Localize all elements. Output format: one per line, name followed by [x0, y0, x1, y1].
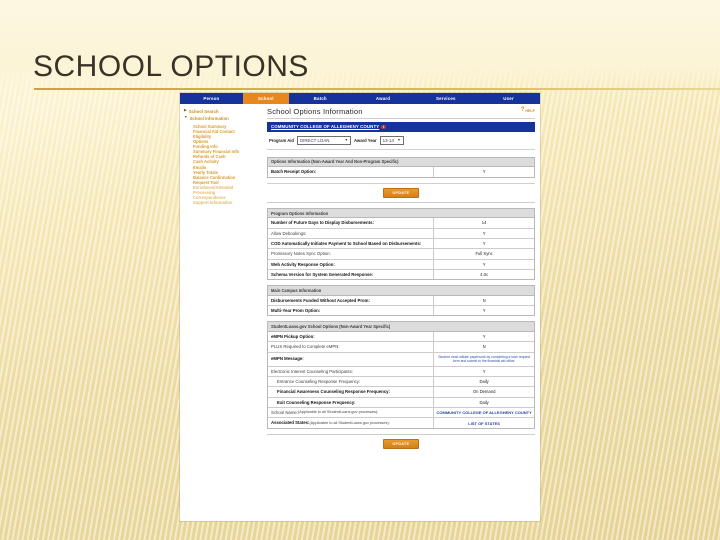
- row-label: Associated States: (Applicable to all St…: [268, 418, 433, 427]
- row-label-sub: (Applicable to all StudentLoans.gov proc…: [298, 410, 378, 415]
- panel-heading: Options Information (Non-Award Year And …: [268, 158, 534, 167]
- row-label-text: School Name:: [271, 410, 298, 415]
- row-label: Web Activity Response Option:: [268, 260, 433, 269]
- sidebar-item-school-search[interactable]: ▶ School Search: [184, 109, 262, 114]
- update-button[interactable]: UPDATE: [383, 188, 420, 198]
- chevron-down-icon: ▼: [345, 138, 348, 142]
- content-title: School Options Information: [267, 107, 363, 116]
- row-label: eMPN Message:: [268, 353, 433, 366]
- row-value: Y: [433, 260, 534, 269]
- row-value: N: [433, 342, 534, 351]
- table-row: COD Automatically Initiates Payment to S…: [268, 239, 534, 249]
- award-year-value: 13-14: [383, 138, 394, 144]
- row-value: 14: [433, 218, 534, 227]
- sidebar-group-label: School Information: [190, 116, 229, 121]
- table-row: Entrance Counseling Response Frequency: …: [268, 377, 534, 387]
- info-icon[interactable]: i: [381, 125, 386, 130]
- row-value: Y: [433, 332, 534, 341]
- row-label: Entrance Counseling Response Frequency:: [268, 377, 433, 386]
- studentloans-gov-panel: StudentLoans.gov School Options (Non-Awa…: [267, 321, 535, 428]
- table-row: Web Activity Response Option: Y: [268, 260, 534, 270]
- help-button[interactable]: ? HELP: [521, 107, 535, 115]
- row-value: On Demand: [433, 387, 534, 396]
- table-row: eMPN Pickup Option: Y: [268, 332, 534, 342]
- row-label: Number of Future Days to Display Disburs…: [268, 218, 433, 227]
- row-value: Y: [433, 306, 534, 315]
- award-year-select[interactable]: 13-14 ▼: [380, 136, 404, 145]
- row-label: Schema Version for System Generated Resp…: [268, 270, 433, 279]
- table-row: Schema Version for System Generated Resp…: [268, 270, 534, 279]
- program-options-panel: Program Options Information Number of Fu…: [267, 208, 535, 280]
- page-header: School Options Information ? HELP: [267, 107, 535, 116]
- row-label: COD Automatically Initiates Payment to S…: [268, 239, 433, 248]
- chevron-down-icon: ▼: [397, 138, 400, 142]
- table-row: eMPN Message: Student must initiate pape…: [268, 353, 534, 367]
- sidebar-item-support-information[interactable]: Support Information: [193, 200, 262, 205]
- row-label: Promissory Notes Sync Option:: [268, 249, 433, 258]
- row-label: Electronic Interest Counseling Participa…: [268, 367, 433, 376]
- table-row: Electronic Interest Counseling Participa…: [268, 367, 534, 377]
- award-year-label: Award Year: [354, 138, 377, 143]
- row-label: School Name: (Applicable to all StudentL…: [268, 408, 433, 417]
- row-value: Y: [433, 167, 534, 176]
- row-value: Y: [433, 229, 534, 238]
- table-row: School Name: (Applicable to all StudentL…: [268, 408, 534, 418]
- row-label: Multi-Year Prom Option:: [268, 306, 433, 315]
- row-label: Exit Counseling Response Frequency:: [268, 398, 433, 407]
- table-row: Promissory Notes Sync Option: Full Sync: [268, 249, 534, 259]
- row-value: Daily: [433, 398, 534, 407]
- table-row: Batch Receipt Option: Y: [268, 167, 534, 176]
- school-name-link[interactable]: COMMUNITY COLLEGE OF ALLEGHENY COUNTY: [271, 124, 379, 130]
- row-label: Batch Receipt Option:: [268, 167, 433, 176]
- tab-batch[interactable]: Batch: [289, 93, 352, 104]
- tab-user[interactable]: User: [477, 93, 540, 104]
- spacer: [267, 150, 535, 157]
- tab-award[interactable]: Award: [352, 93, 415, 104]
- selector-row: Program Aid DIRECT LOAN ▼ Award Year 13-…: [267, 132, 535, 150]
- table-row: Disbursements Funded Without Accepted Pr…: [268, 296, 534, 306]
- sidebar-group-school-information[interactable]: ▼ School Information: [184, 116, 262, 121]
- row-value: COMMUNITY COLLEGE OF ALLEGHENY COUNTY: [433, 408, 534, 417]
- table-row: Allow Debookings: Y: [268, 229, 534, 239]
- row-label: Allow Debookings:: [268, 229, 433, 238]
- row-value: N: [433, 296, 534, 305]
- row-label-text: Associated States:: [271, 420, 309, 425]
- row-label: Disbursements Funded Without Accepted Pr…: [268, 296, 433, 305]
- chevron-right-icon: ▶: [184, 109, 187, 113]
- update-bar-1: UPDATE: [267, 183, 535, 202]
- panel-heading: Program Options Information: [268, 209, 534, 218]
- table-row: Financial Awareness Counseling Response …: [268, 387, 534, 397]
- program-aid-label: Program Aid: [269, 138, 294, 143]
- table-row: Number of Future Days to Display Disburs…: [268, 218, 534, 228]
- help-label: HELP: [525, 109, 535, 113]
- program-aid-value: DIRECT LOAN: [300, 138, 329, 144]
- chevron-down-icon: ▼: [184, 116, 188, 120]
- top-navigation-bar: Person School Batch Award Services User: [180, 93, 540, 104]
- row-value: Daily: [433, 377, 534, 386]
- header-divider: [267, 118, 535, 119]
- sidebar-item-label-school-search: School Search: [189, 109, 219, 114]
- update-button[interactable]: UPDATE: [383, 439, 420, 449]
- tab-person[interactable]: Person: [180, 93, 243, 104]
- row-value[interactable]: LIST OF STATES: [433, 418, 534, 427]
- sidebar: ▶ School Search ▼ School Information Sch…: [180, 104, 262, 521]
- row-value: Student must initiate paperwork by compl…: [433, 353, 534, 366]
- row-label: eMPN Pickup Option:: [268, 332, 433, 341]
- table-row: Multi-Year Prom Option: Y: [268, 306, 534, 315]
- school-name-banner: COMMUNITY COLLEGE OF ALLEGHENY COUNTY i: [267, 122, 535, 132]
- row-label: Financial Awareness Counseling Response …: [268, 387, 433, 396]
- tab-school[interactable]: School: [243, 93, 289, 104]
- main-campus-panel: Main Campus Information Disbursements Fu…: [267, 285, 535, 316]
- program-aid-select[interactable]: DIRECT LOAN ▼: [297, 136, 351, 145]
- row-value: Full Sync: [433, 249, 534, 258]
- section-divider: [267, 202, 535, 203]
- main-content-pane: School Options Information ? HELP COMMUN…: [262, 104, 540, 521]
- panel-heading: Main Campus Information: [268, 286, 534, 295]
- row-value: 4.0c: [433, 270, 534, 279]
- question-mark-icon: ?: [521, 107, 525, 115]
- table-row: Associated States: (Applicable to all St…: [268, 418, 534, 427]
- row-value: Y: [433, 239, 534, 248]
- application-screenshot: Person School Batch Award Services User …: [180, 93, 540, 521]
- page-title: SCHOOL OPTIONS: [33, 50, 309, 84]
- table-row: Exit Counseling Response Frequency: Dail…: [268, 398, 534, 408]
- update-bar-2: UPDATE: [267, 434, 535, 453]
- options-information-panel: Options Information (Non-Award Year And …: [267, 157, 535, 178]
- panel-heading: StudentLoans.gov School Options (Non-Awa…: [268, 322, 534, 331]
- title-divider: [34, 88, 720, 90]
- table-row: PLUS Required to Complete eMPN: N: [268, 342, 534, 352]
- row-label-sub: (Applicable to all StudentLoans.gov proc…: [309, 421, 389, 426]
- row-value: Y: [433, 367, 534, 376]
- tab-services[interactable]: Services: [414, 93, 477, 104]
- row-label: PLUS Required to Complete eMPN:: [268, 342, 433, 351]
